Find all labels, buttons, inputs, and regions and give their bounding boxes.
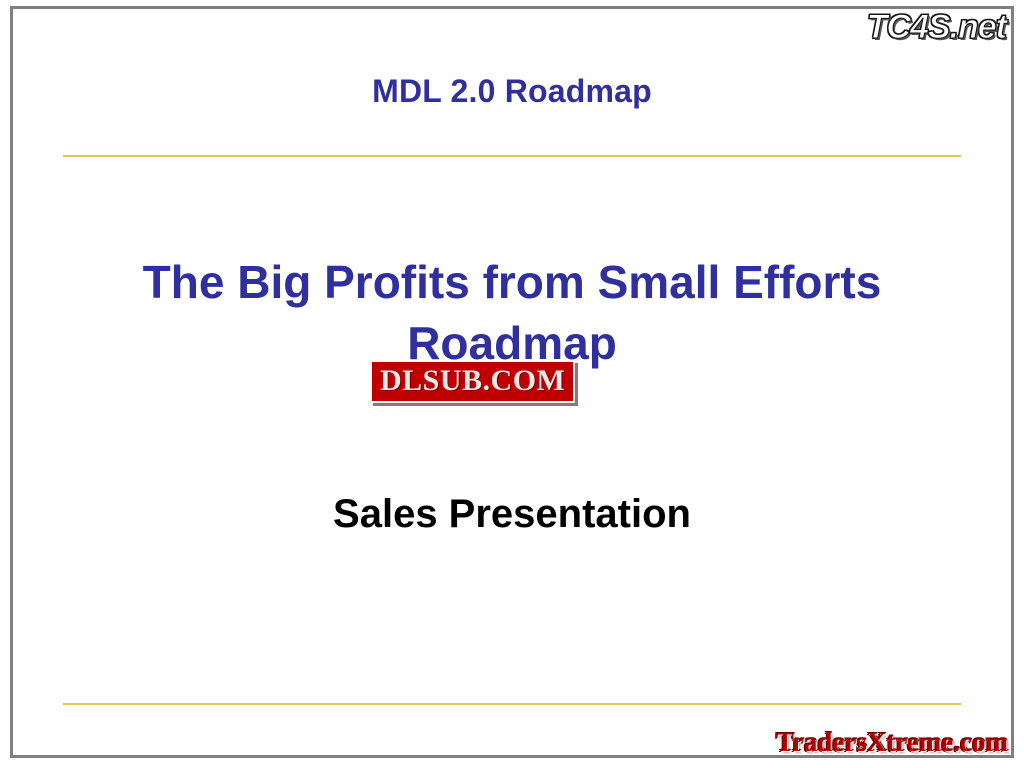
watermark-top-right: TC4S.net xyxy=(867,8,1006,47)
subheading: Sales Presentation xyxy=(112,492,912,537)
divider-top xyxy=(63,155,961,157)
main-heading: The Big Profits from Small Efforts Roadm… xyxy=(112,252,912,374)
watermark-center-stamp: DLSUB.COM xyxy=(370,360,575,403)
page-title: MDL 2.0 Roadmap xyxy=(0,73,1024,110)
slide-canvas: TC4S.net MDL 2.0 Roadmap The Big Profits… xyxy=(0,0,1024,768)
watermark-bottom-right: TradersXtreme.com xyxy=(776,727,1008,758)
divider-bottom xyxy=(63,703,961,705)
